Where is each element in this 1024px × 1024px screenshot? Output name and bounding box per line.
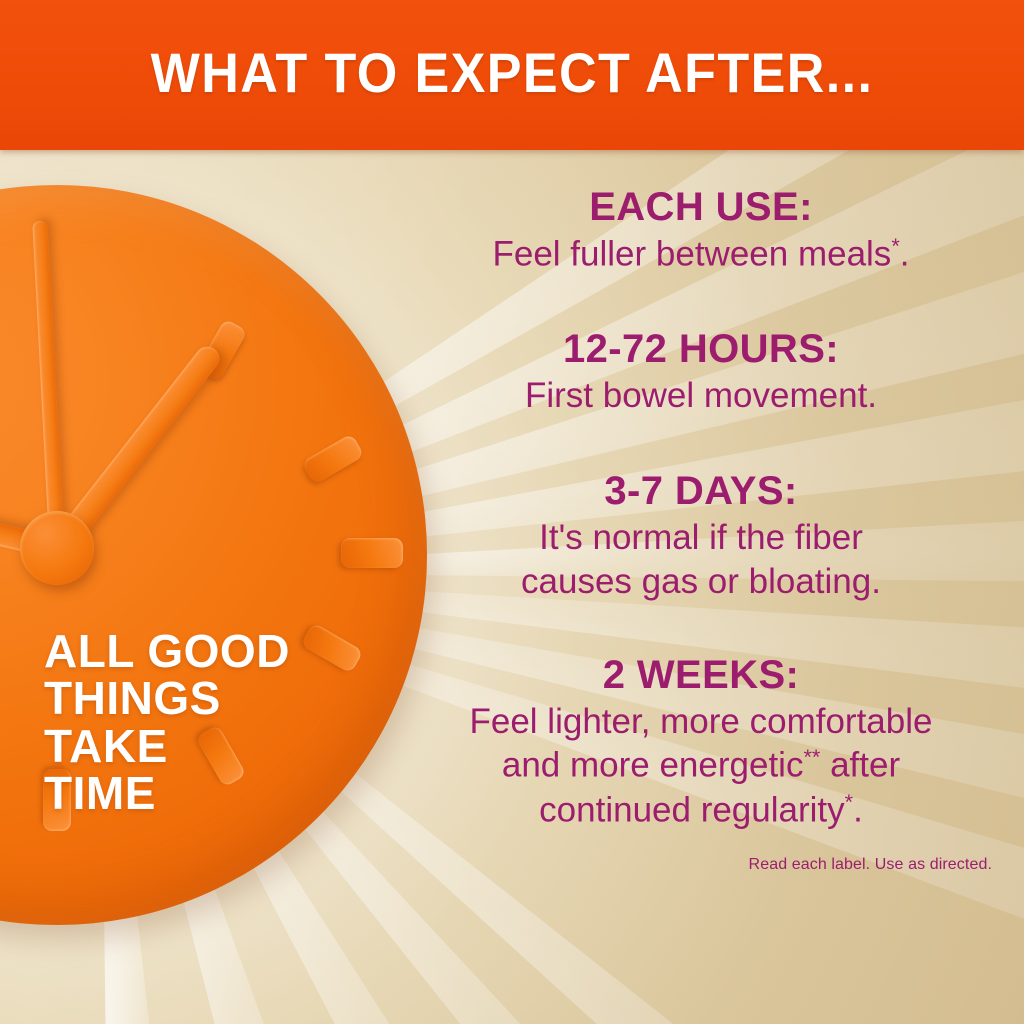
timeline-item-2-weeks: 2 WEEKS: Feel lighter, more comfortable …: [392, 654, 1010, 833]
timeline-body-line: and more energetic** after: [392, 743, 1010, 787]
clock-center-hub: [20, 511, 94, 585]
timeline-body-line: First bowel movement.: [392, 374, 1010, 418]
timeline-content: EACH USE: Feel fuller between meals*. 12…: [378, 150, 1024, 1024]
timeline-heading: EACH USE:: [392, 186, 1010, 228]
timeline-body: First bowel movement.: [392, 374, 1010, 418]
clock-caption-line-1: ALL GOOD: [44, 628, 374, 675]
clock-caption-line-4: TIME: [44, 770, 374, 817]
timeline-item-each-use: EACH USE: Feel fuller between meals*.: [392, 186, 1010, 276]
clock-caption-line-3: TAKE: [44, 723, 374, 770]
timeline-body-line: Feel fuller between meals*.: [392, 232, 1010, 276]
page-title: WHAT TO EXPECT AFTER...: [36, 40, 988, 105]
timeline-body-line: Feel lighter, more comfortable: [392, 700, 1010, 744]
timeline-heading: 3-7 DAYS:: [392, 470, 1010, 512]
timeline-item-3-7-days: 3-7 DAYS: It's normal if the fiber cause…: [392, 470, 1010, 604]
timeline-heading: 12-72 HOURS:: [392, 328, 1010, 370]
infographic-poster: WHAT TO EXPECT AFTER... ALL GOOD THINGS …: [0, 0, 1024, 1024]
timeline-body: It's normal if the fiber causes gas or b…: [392, 516, 1010, 604]
legal-fineprint: Read each label. Use as directed.: [392, 856, 1010, 874]
timeline-body: Feel lighter, more comfortable and more …: [392, 700, 1010, 833]
timeline-heading: 2 WEEKS:: [392, 654, 1010, 696]
clock-illustration: ALL GOOD THINGS TAKE TIME: [0, 185, 427, 925]
clock-caption-line-2: THINGS: [44, 675, 374, 722]
timeline-body-line: continued regularity*.: [392, 788, 1010, 832]
timeline-item-12-72-hours: 12-72 HOURS: First bowel movement.: [392, 328, 1010, 418]
timeline-body: Feel fuller between meals*.: [392, 232, 1010, 276]
timeline-body-line: causes gas or bloating.: [392, 560, 1010, 604]
clock-caption: ALL GOOD THINGS TAKE TIME: [44, 628, 374, 818]
header-banner: WHAT TO EXPECT AFTER...: [0, 0, 1024, 150]
timeline-body-line: It's normal if the fiber: [392, 516, 1010, 560]
